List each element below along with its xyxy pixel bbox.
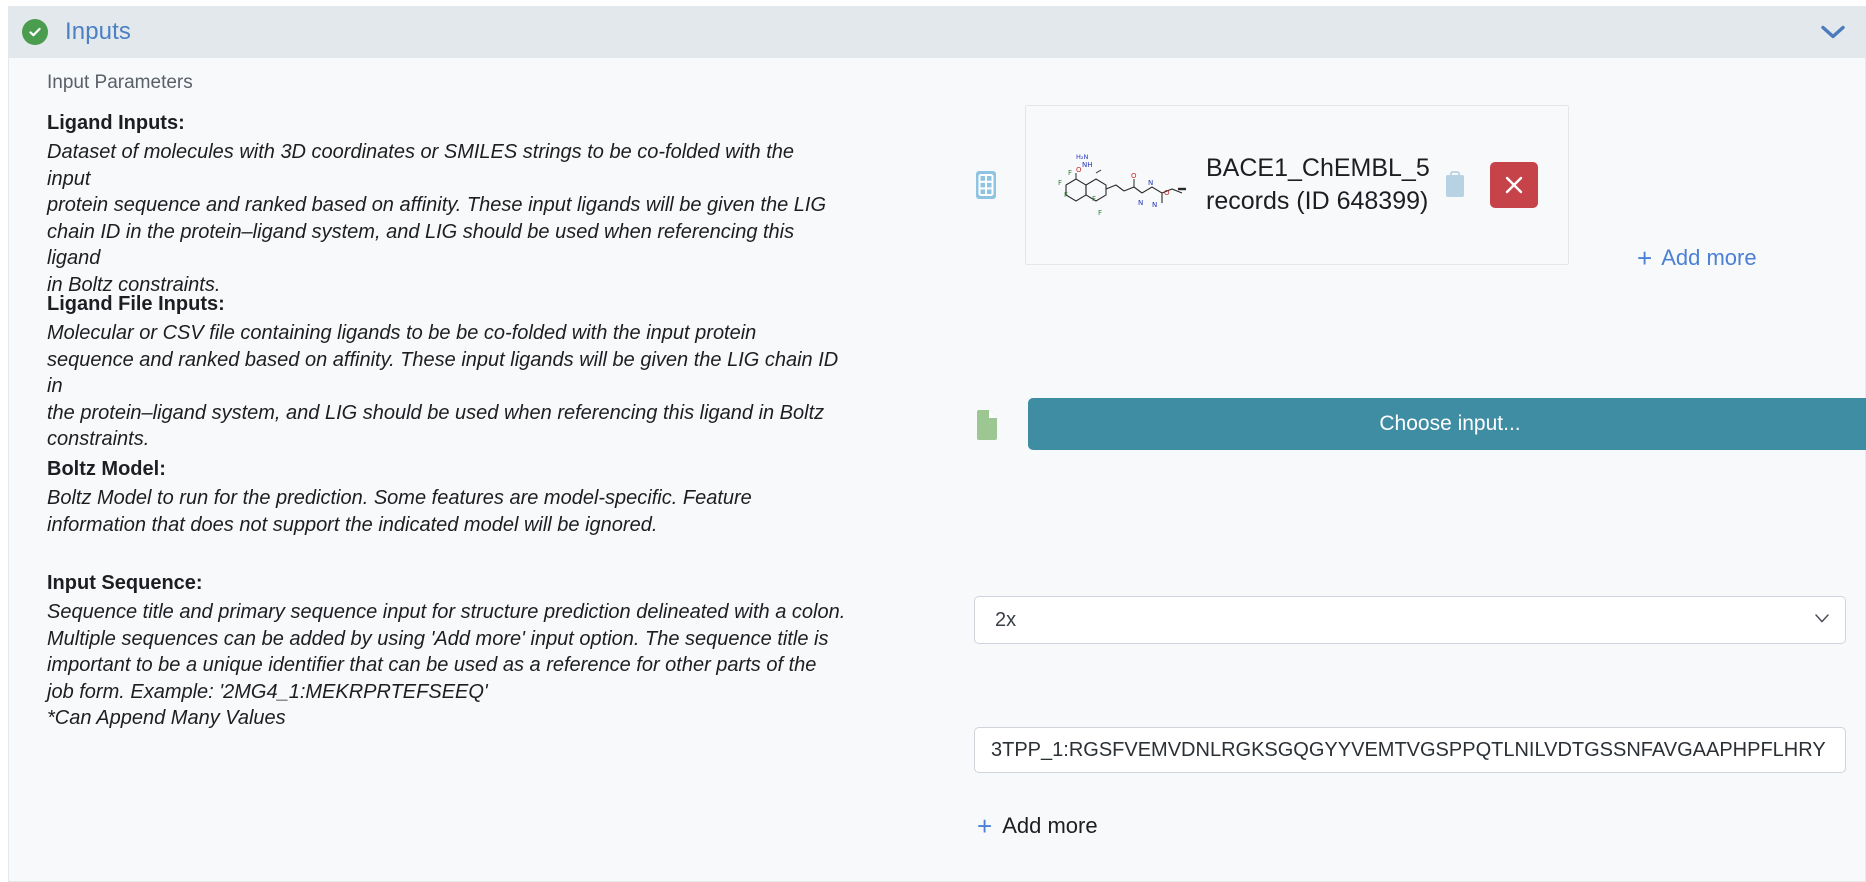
- add-more-sequence-label: Add more: [1002, 813, 1097, 839]
- ligand-inputs-description: Ligand Inputs: Dataset of molecules with…: [47, 112, 837, 299]
- ligand-card: F F F F F O O O NH H₂N N N N: [1025, 105, 1569, 265]
- boltz-model-select-wrapper: 2x: [974, 596, 1846, 644]
- svg-text:NH: NH: [1082, 161, 1093, 169]
- input-parameters-panel: Inputs Input Parameters Ligand Inputs: D…: [0, 0, 1866, 882]
- svg-text:F: F: [1098, 209, 1102, 217]
- svg-text:O: O: [1164, 189, 1170, 197]
- ligand-inputs-help-text: Dataset of molecules with 3D coordinates…: [47, 139, 837, 299]
- choose-input-button[interactable]: Choose input...: [1028, 398, 1866, 450]
- svg-text:F: F: [1092, 195, 1096, 203]
- input-sequence-help-text: Sequence title and primary sequence inpu…: [47, 599, 847, 732]
- add-more-sequence-button[interactable]: + Add more: [977, 813, 1098, 839]
- page-title: Inputs: [65, 18, 131, 46]
- clipboard-icon[interactable]: [1442, 170, 1468, 200]
- input-sequence-field[interactable]: [974, 727, 1846, 773]
- boltz-model-description: Boltz Model: Boltz Model to run for the …: [47, 458, 847, 538]
- boltz-model-label: Boltz Model:: [47, 458, 847, 481]
- chevron-down-icon[interactable]: [1820, 24, 1846, 40]
- input-parameters-subtitle: Input Parameters: [47, 72, 193, 94]
- file-document-icon: [974, 407, 1000, 441]
- dataset-table-icon: [969, 168, 1003, 202]
- plus-icon: +: [977, 813, 992, 839]
- check-circle-icon: [22, 19, 48, 45]
- ligand-inputs-label: Ligand Inputs:: [47, 112, 837, 135]
- boltz-model-select[interactable]: 2x: [974, 596, 1846, 644]
- svg-text:F: F: [1058, 179, 1062, 187]
- input-sequence-label: Input Sequence:: [47, 572, 847, 595]
- add-more-ligand-button[interactable]: + Add more: [1637, 245, 1757, 271]
- ligand-card-name: BACE1_ChEMBL_5 records (ID 648399): [1206, 152, 1438, 218]
- ligand-file-inputs-control: Choose input...: [974, 398, 1866, 450]
- svg-text:O: O: [1131, 172, 1137, 180]
- inputs-accordion-header[interactable]: Inputs: [8, 6, 1866, 58]
- ligand-file-inputs-description: Ligand File Inputs: Molecular or CSV fil…: [47, 293, 847, 453]
- svg-text:F: F: [1064, 191, 1068, 199]
- svg-text:N: N: [1152, 201, 1157, 209]
- add-more-ligand-label: Add more: [1661, 245, 1756, 271]
- svg-text:H₂N: H₂N: [1076, 153, 1088, 161]
- ligand-file-inputs-label: Ligand File Inputs:: [47, 293, 847, 316]
- remove-ligand-button[interactable]: [1490, 162, 1538, 208]
- svg-text:N: N: [1138, 199, 1143, 207]
- ligand-file-inputs-help-text: Molecular or CSV file containing ligands…: [47, 320, 847, 453]
- plus-icon: +: [1637, 245, 1652, 271]
- boltz-model-help-text: Boltz Model to run for the prediction. S…: [47, 485, 847, 538]
- input-sequence-description: Input Sequence: Sequence title and prima…: [47, 572, 847, 732]
- molecule-structure-icon: F F F F F O O O NH H₂N N N N: [1052, 145, 1192, 225]
- panel-body: Input Parameters Ligand Inputs: Dataset …: [8, 58, 1866, 882]
- svg-text:F: F: [1068, 169, 1072, 177]
- svg-text:N: N: [1148, 179, 1153, 187]
- ligand-inputs-control: F F F F F O O O NH H₂N N N N: [969, 105, 1569, 265]
